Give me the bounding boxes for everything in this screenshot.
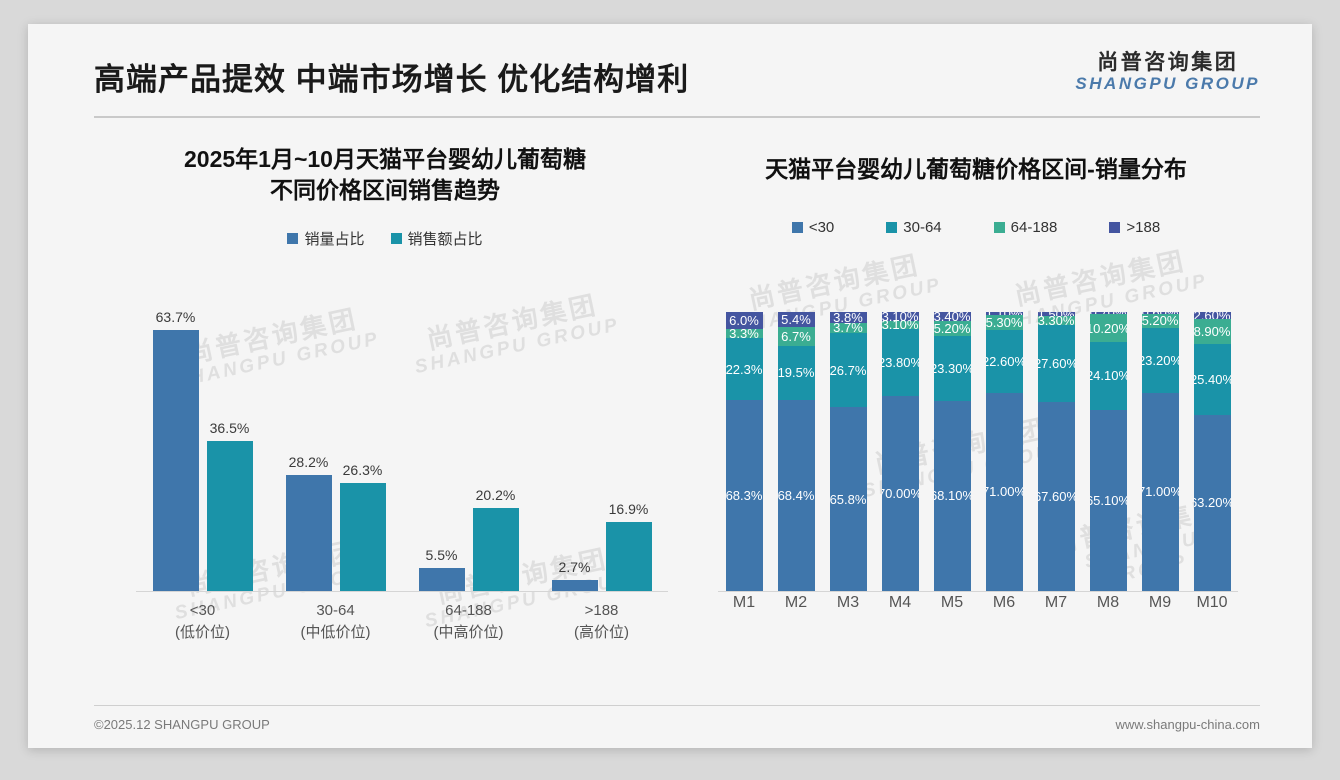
legend-label: 64-188 [1011, 219, 1058, 236]
stack-segment-label: 5.4% [781, 312, 811, 327]
bar-value-label: 26.3% [343, 462, 383, 478]
stack-segment-label: 23.20% [1142, 353, 1179, 368]
left-chart-title-line1: 2025年1月~10月天猫平台婴幼儿葡萄糖 [90, 144, 680, 175]
left-chart-legend: 销量占比 销售额占比 [90, 228, 680, 249]
left-chart-plot-area: 63.7%36.5%28.2%26.3%5.5%20.2%2.7%16.9% [136, 304, 668, 592]
stack-segment: 5.30% [986, 315, 1023, 330]
stack-segment: 63.20% [1194, 415, 1231, 591]
x-axis-tick-label: M3 [822, 594, 874, 624]
right-stacked-bar-chart: 尚普咨询集团 SHANGPU GROUP 尚普咨询集团 SHANGPU GROU… [708, 312, 1244, 626]
stack-segment-label: 22.60% [986, 354, 1023, 369]
x-axis-tick-sublabel: (中高价位) [402, 622, 535, 644]
stack-segment: 71.00% [1142, 393, 1179, 591]
slide-canvas: 高端产品提效 中端市场增长 优化结构增利 尚普咨询集团 SHANGPU GROU… [28, 24, 1312, 748]
bar-value-label: 63.7% [156, 309, 196, 325]
stack-segment-label: 27.60% [1038, 356, 1075, 371]
legend-swatch-icon [994, 222, 1005, 233]
brand-name-cn: 尚普咨询集团 [1075, 52, 1260, 74]
stacked-bar: 6.0%3.3%22.3%68.3% [726, 312, 763, 591]
left-grouped-bar-chart: 尚普咨询集团 SHANGPU GROUP 尚普咨询集团 SHANGPU GROU… [110, 304, 668, 626]
stacked-bar-column[interactable]: 0.70%10.20%24.10%65.10% [1082, 312, 1134, 591]
stacked-bar: 0.70%10.20%24.10%65.10% [1090, 312, 1127, 591]
bar-group: 2.7%16.9% [535, 304, 668, 591]
bar-group: 63.7%36.5% [136, 304, 269, 591]
stacked-bar: 3.8%3.7%26.7%65.8% [830, 312, 867, 591]
stack-segment-label: 5.20% [1142, 313, 1179, 328]
stack-segment: 3.40% [934, 312, 971, 321]
header-divider [94, 116, 1260, 118]
stacked-bar-column[interactable]: 0.60%5.20%23.20%71.00% [1134, 312, 1186, 591]
left-chart-title-line2: 不同价格区间销售趋势 [90, 175, 680, 206]
legend-swatch-icon [287, 233, 298, 244]
x-axis-tick-label: 64-188 [402, 600, 535, 622]
stack-segment: 2.60% [1194, 312, 1231, 319]
bar-item[interactable]: 16.9% [606, 304, 652, 591]
stack-segment: 71.00% [986, 393, 1023, 591]
stack-segment: 23.20% [1142, 328, 1179, 393]
stack-segment: 65.8% [830, 407, 867, 591]
stacked-bar-column[interactable]: 3.40%5.20%23.30%68.10% [926, 312, 978, 591]
footer-website: www.shangpu-china.com [1115, 717, 1260, 732]
right-chart-x-axis: M1M2M3M4M5M6M7M8M9M10 [718, 594, 1238, 624]
stack-segment: 23.80% [882, 329, 919, 395]
bar-item[interactable]: 5.5% [419, 304, 465, 591]
stack-segment-label: 71.00% [1142, 484, 1179, 499]
legend-label: >188 [1126, 219, 1160, 236]
stacked-bar-column[interactable]: 1.10%5.30%22.60%71.00% [978, 312, 1030, 591]
x-axis-tick-sublabel: (高价位) [535, 622, 668, 644]
x-axis-tick-label: M4 [874, 594, 926, 624]
stack-segment: 3.30% [1038, 316, 1075, 325]
stack-segment: 3.3% [726, 329, 763, 338]
stacked-bar: 3.40%5.20%23.30%68.10% [934, 312, 971, 591]
footer-copyright: ©2025.12 SHANGPU GROUP [94, 717, 270, 732]
x-axis-tick-label: 30-64 [269, 600, 402, 622]
bar-value-label: 28.2% [289, 454, 329, 470]
x-axis-tick-label: M10 [1186, 594, 1238, 624]
stacked-bar-column[interactable]: 3.8%3.7%26.7%65.8% [822, 312, 874, 591]
legend-item-64-188[interactable]: 64-188 [994, 219, 1058, 236]
stack-segment: 24.10% [1090, 342, 1127, 409]
stack-segment-label: 22.3% [726, 362, 763, 377]
stack-segment-label: 23.80% [882, 355, 919, 370]
x-axis-tick-label: M8 [1082, 594, 1134, 624]
footer-divider [94, 705, 1260, 706]
legend-label: 30-64 [903, 219, 941, 236]
stack-segment: 22.60% [986, 330, 1023, 393]
legend-item-sales-value[interactable]: 销售额占比 [391, 228, 483, 249]
stacked-bar-column[interactable]: 3.10%3.10%23.80%70.00% [874, 312, 926, 591]
stack-segment: 5.20% [934, 321, 971, 336]
bar [286, 475, 332, 591]
page-title: 高端产品提效 中端市场增长 优化结构增利 [94, 54, 689, 99]
stack-segment: 5.4% [778, 312, 815, 327]
bar [153, 330, 199, 591]
bar [606, 522, 652, 591]
brand-name-en: SHANGPU GROUP [1075, 75, 1260, 93]
stack-segment: 68.4% [778, 400, 815, 591]
stack-segment: 65.10% [1090, 410, 1127, 591]
stack-segment-label: 8.90% [1194, 324, 1231, 339]
bar [207, 441, 253, 591]
bar-item[interactable]: 2.7% [552, 304, 598, 591]
stack-segment-label: 68.4% [778, 488, 815, 503]
stack-segment: 27.60% [1038, 325, 1075, 402]
x-axis-tick: <30(低价位) [136, 592, 269, 648]
legend-swatch-icon [792, 222, 803, 233]
bar-group: 5.5%20.2% [402, 304, 535, 591]
legend-swatch-icon [1109, 222, 1120, 233]
stack-segment: 23.30% [934, 336, 971, 401]
x-axis-tick-sublabel: (低价位) [136, 622, 269, 644]
stack-segment: 25.40% [1194, 344, 1231, 415]
slide-header: 高端产品提效 中端市场增长 优化结构增利 尚普咨询集团 SHANGPU GROU… [28, 24, 1312, 120]
bar [340, 483, 386, 591]
stacked-bar-column[interactable]: 1.50%3.30%27.60%67.60% [1030, 312, 1082, 591]
stack-segment-label: 19.5% [778, 365, 815, 380]
bar [473, 508, 519, 591]
bar-item[interactable]: 36.5% [207, 304, 253, 591]
stack-segment-label: 5.30% [986, 315, 1023, 330]
stack-segment-label: 68.3% [726, 488, 763, 503]
stacked-bar: 3.10%3.10%23.80%70.00% [882, 312, 919, 591]
x-axis-tick-label: M5 [926, 594, 978, 624]
x-axis-tick-sublabel: (中低价位) [269, 622, 402, 644]
stack-segment-label: 10.20% [1090, 321, 1127, 336]
x-axis-tick-label: <30 [136, 600, 269, 622]
bar-value-label: 5.5% [426, 547, 458, 563]
stack-segment: 26.7% [830, 333, 867, 407]
bar-item[interactable]: 63.7% [153, 304, 199, 591]
x-axis-tick: 30-64(中低价位) [269, 592, 402, 648]
legend-swatch-icon [391, 233, 402, 244]
bar-value-label: 20.2% [476, 487, 516, 503]
legend-label: <30 [809, 219, 834, 236]
stack-segment-label: 70.00% [882, 486, 919, 501]
right-chart-plot-area: 6.0%3.3%22.3%68.3%5.4%6.7%19.5%68.4%3.8%… [718, 312, 1238, 592]
stacked-bar: 1.10%5.30%22.60%71.00% [986, 312, 1023, 591]
brand-logo: 尚普咨询集团 SHANGPU GROUP [1075, 52, 1260, 93]
bar-group: 28.2%26.3% [269, 304, 402, 591]
x-axis-tick: 64-188(中高价位) [402, 592, 535, 648]
stack-segment-label: 67.60% [1038, 489, 1075, 504]
stack-segment-label: 23.30% [934, 361, 971, 376]
legend-item-30[interactable]: <30 [792, 219, 834, 236]
legend-swatch-icon [886, 222, 897, 233]
stack-segment-label: 6.7% [781, 329, 811, 344]
stack-segment-label: 26.7% [830, 363, 867, 378]
legend-item-sales-volume[interactable]: 销量占比 [287, 228, 364, 249]
x-axis-tick-label: >188 [535, 600, 668, 622]
stack-segment: 6.7% [778, 327, 815, 346]
stack-segment-label: 65.8% [830, 492, 867, 507]
stack-segment: 22.3% [726, 338, 763, 400]
stacked-bar: 1.50%3.30%27.60%67.60% [1038, 312, 1075, 591]
stack-segment: 10.20% [1090, 314, 1127, 342]
stack-segment-label: 24.10% [1090, 368, 1127, 383]
stack-segment: 70.00% [882, 396, 919, 591]
stacked-bar: 2.60%8.90%25.40%63.20% [1194, 312, 1231, 591]
stacked-bar-column[interactable]: 2.60%8.90%25.40%63.20% [1186, 312, 1238, 591]
stack-segment: 5.20% [1142, 314, 1179, 329]
left-chart-panel: 2025年1月~10月天猫平台婴幼儿葡萄糖 不同价格区间销售趋势 销量占比 销售… [90, 144, 680, 704]
stack-segment: 3.7% [830, 323, 867, 333]
stack-segment: 3.10% [882, 321, 919, 330]
right-chart-title: 天猫平台婴幼儿葡萄糖价格区间-销量分布 [700, 144, 1252, 185]
stack-segment: 8.90% [1194, 319, 1231, 344]
stack-segment: 19.5% [778, 346, 815, 400]
legend-label: 销售额占比 [408, 228, 483, 249]
bar-item[interactable]: 28.2% [286, 304, 332, 591]
stacked-bar-column[interactable]: 5.4%6.7%19.5%68.4% [770, 312, 822, 591]
legend-item-30-64[interactable]: 30-64 [886, 219, 941, 236]
stack-segment-label: 71.00% [986, 484, 1023, 499]
stack-segment: 67.60% [1038, 402, 1075, 591]
x-axis-tick-label: M6 [978, 594, 1030, 624]
x-axis-tick-label: M9 [1134, 594, 1186, 624]
legend-item-188[interactable]: >188 [1109, 219, 1160, 236]
x-axis-tick: >188(高价位) [535, 592, 668, 648]
right-chart-panel: 天猫平台婴幼儿葡萄糖价格区间-销量分布 <3030-6464-188>188 尚… [700, 144, 1252, 704]
stack-segment-label: 63.20% [1194, 495, 1231, 510]
stack-segment: 68.10% [934, 401, 971, 591]
stacked-bar: 0.60%5.20%23.20%71.00% [1142, 312, 1179, 591]
stack-segment-label: 5.20% [934, 321, 971, 336]
left-chart-title: 2025年1月~10月天猫平台婴幼儿葡萄糖 不同价格区间销售趋势 [90, 144, 680, 206]
bar-value-label: 16.9% [609, 501, 649, 517]
right-chart-legend: <3030-6464-188>188 [700, 219, 1252, 236]
legend-label: 销量占比 [304, 228, 364, 249]
stack-segment: 68.3% [726, 400, 763, 591]
bar-value-label: 2.7% [559, 559, 591, 575]
stack-segment-label: 68.10% [934, 488, 971, 503]
x-axis-tick-label: M7 [1030, 594, 1082, 624]
bar [419, 568, 465, 591]
bar-value-label: 36.5% [210, 420, 250, 436]
bar-item[interactable]: 20.2% [473, 304, 519, 591]
stacked-bar: 5.4%6.7%19.5%68.4% [778, 312, 815, 591]
bar-item[interactable]: 26.3% [340, 304, 386, 591]
stack-segment-label: 25.40% [1194, 372, 1231, 387]
stacked-bar-column[interactable]: 6.0%3.3%22.3%68.3% [718, 312, 770, 591]
x-axis-tick-label: M1 [718, 594, 770, 624]
x-axis-tick-label: M2 [770, 594, 822, 624]
left-chart-x-axis: <30(低价位)30-64(中低价位)64-188(中高价位)>188(高价位) [136, 592, 668, 648]
bar [552, 580, 598, 591]
stack-segment-label: 65.10% [1090, 493, 1127, 508]
